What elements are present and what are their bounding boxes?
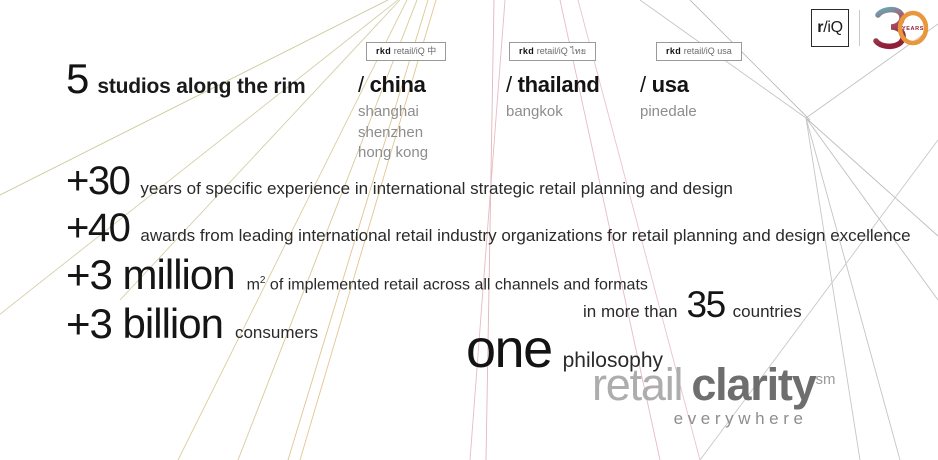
stat-years-number: +30 — [66, 161, 129, 201]
studios-label: studios along the rim — [97, 75, 305, 99]
badge-locale: usa — [717, 46, 732, 56]
riq-brand-logo: r/iQ — [811, 9, 849, 47]
badge-brand: rkd — [519, 46, 534, 56]
logo-cluster: r/iQ YEARS — [811, 6, 930, 50]
stat-awards-number: +40 — [66, 208, 129, 248]
country-column-usa: / usa pinedale — [640, 73, 697, 123]
anniversary-years-label: YEARS — [902, 26, 924, 32]
tagline-service-mark: sm — [816, 371, 836, 388]
tagline-subline: everywhere — [592, 409, 836, 429]
stat-years-experience: +30 years of specific experience in inte… — [66, 161, 733, 201]
city-item: hong kong — [358, 143, 428, 164]
riq-logo-text: r/iQ — [817, 20, 843, 36]
badge-rkd-retailiq-thailand[interactable]: rkd retail/iQ ไทย — [509, 42, 596, 61]
city-item: shanghai — [358, 102, 428, 123]
badge-locale: ไทย — [570, 46, 586, 56]
badge-product: retail/iQ — [537, 46, 568, 56]
stat-countries-number: 35 — [687, 286, 725, 323]
badge-product: retail/iQ — [394, 46, 425, 56]
country-slash: / — [358, 72, 364, 97]
stat-countries-reached: in more than 35 countries — [583, 286, 802, 323]
city-list-usa: pinedale — [640, 102, 697, 123]
philosophy-count: one — [466, 322, 552, 376]
city-list-china: shanghai shenzhen hong kong — [358, 102, 428, 164]
stat-consumers-number: +3 billion — [66, 303, 223, 345]
city-item: shenzhen — [358, 123, 428, 144]
stat-implemented-area: +3 million m2 of implemented retail acro… — [66, 254, 648, 296]
riq-logo-iq: iQ — [827, 19, 842, 36]
badge-brand: rkd — [376, 46, 391, 56]
studios-headline: 5 studios along the rim — [66, 58, 306, 100]
country-name-china: / china — [358, 73, 428, 97]
stat-countries-prefix: in more than — [583, 302, 678, 322]
stat-consumers: +3 billion consumers — [66, 303, 318, 345]
country-column-thailand: / thailand bangkok — [506, 73, 600, 123]
badge-locale: 中 — [427, 46, 436, 56]
city-item: pinedale — [640, 102, 697, 123]
stat-awards: +40 awards from leading international re… — [66, 208, 911, 248]
country-label: thailand — [518, 72, 600, 97]
tagline-word-clarity: clarity — [691, 359, 815, 410]
stat-years-text: years of specific experience in internat… — [140, 180, 733, 197]
country-column-china: / china shanghai shenzhen hong kong — [358, 73, 428, 164]
anniversary-logo-graphic: YEARS — [870, 6, 930, 50]
badge-rkd-retailiq-usa[interactable]: rkd retail/iQ usa — [656, 42, 742, 61]
stat-awards-text: awards from leading international retail… — [140, 227, 910, 244]
country-label: china — [370, 72, 426, 97]
slide-canvas: r/iQ YEARS rkd retail/iQ — [0, 0, 938, 460]
tagline-block: retailclaritysm everywhere — [592, 362, 836, 429]
anniversary-30-years-logo: YEARS — [870, 6, 930, 50]
country-slash: / — [506, 72, 512, 97]
country-slash: / — [640, 72, 646, 97]
badge-brand: rkd — [666, 46, 681, 56]
country-name-usa: / usa — [640, 73, 697, 97]
studios-count: 5 — [66, 58, 88, 100]
stat-area-number: +3 million — [66, 254, 235, 296]
city-item: bangkok — [506, 102, 600, 123]
stat-consumers-text: consumers — [235, 324, 318, 341]
badge-rkd-retailiq-china[interactable]: rkd retail/iQ 中 — [366, 42, 446, 61]
country-name-thailand: / thailand — [506, 73, 600, 97]
stat-area-unit: m — [247, 276, 260, 293]
city-list-thailand: bangkok — [506, 102, 600, 123]
stat-countries-text: countries — [733, 303, 802, 320]
tagline-main-line: retailclaritysm — [592, 362, 836, 407]
country-label: usa — [652, 72, 689, 97]
badge-product: retail/iQ — [684, 46, 715, 56]
logo-divider — [859, 10, 860, 46]
tagline-word-retail: retail — [592, 359, 682, 410]
